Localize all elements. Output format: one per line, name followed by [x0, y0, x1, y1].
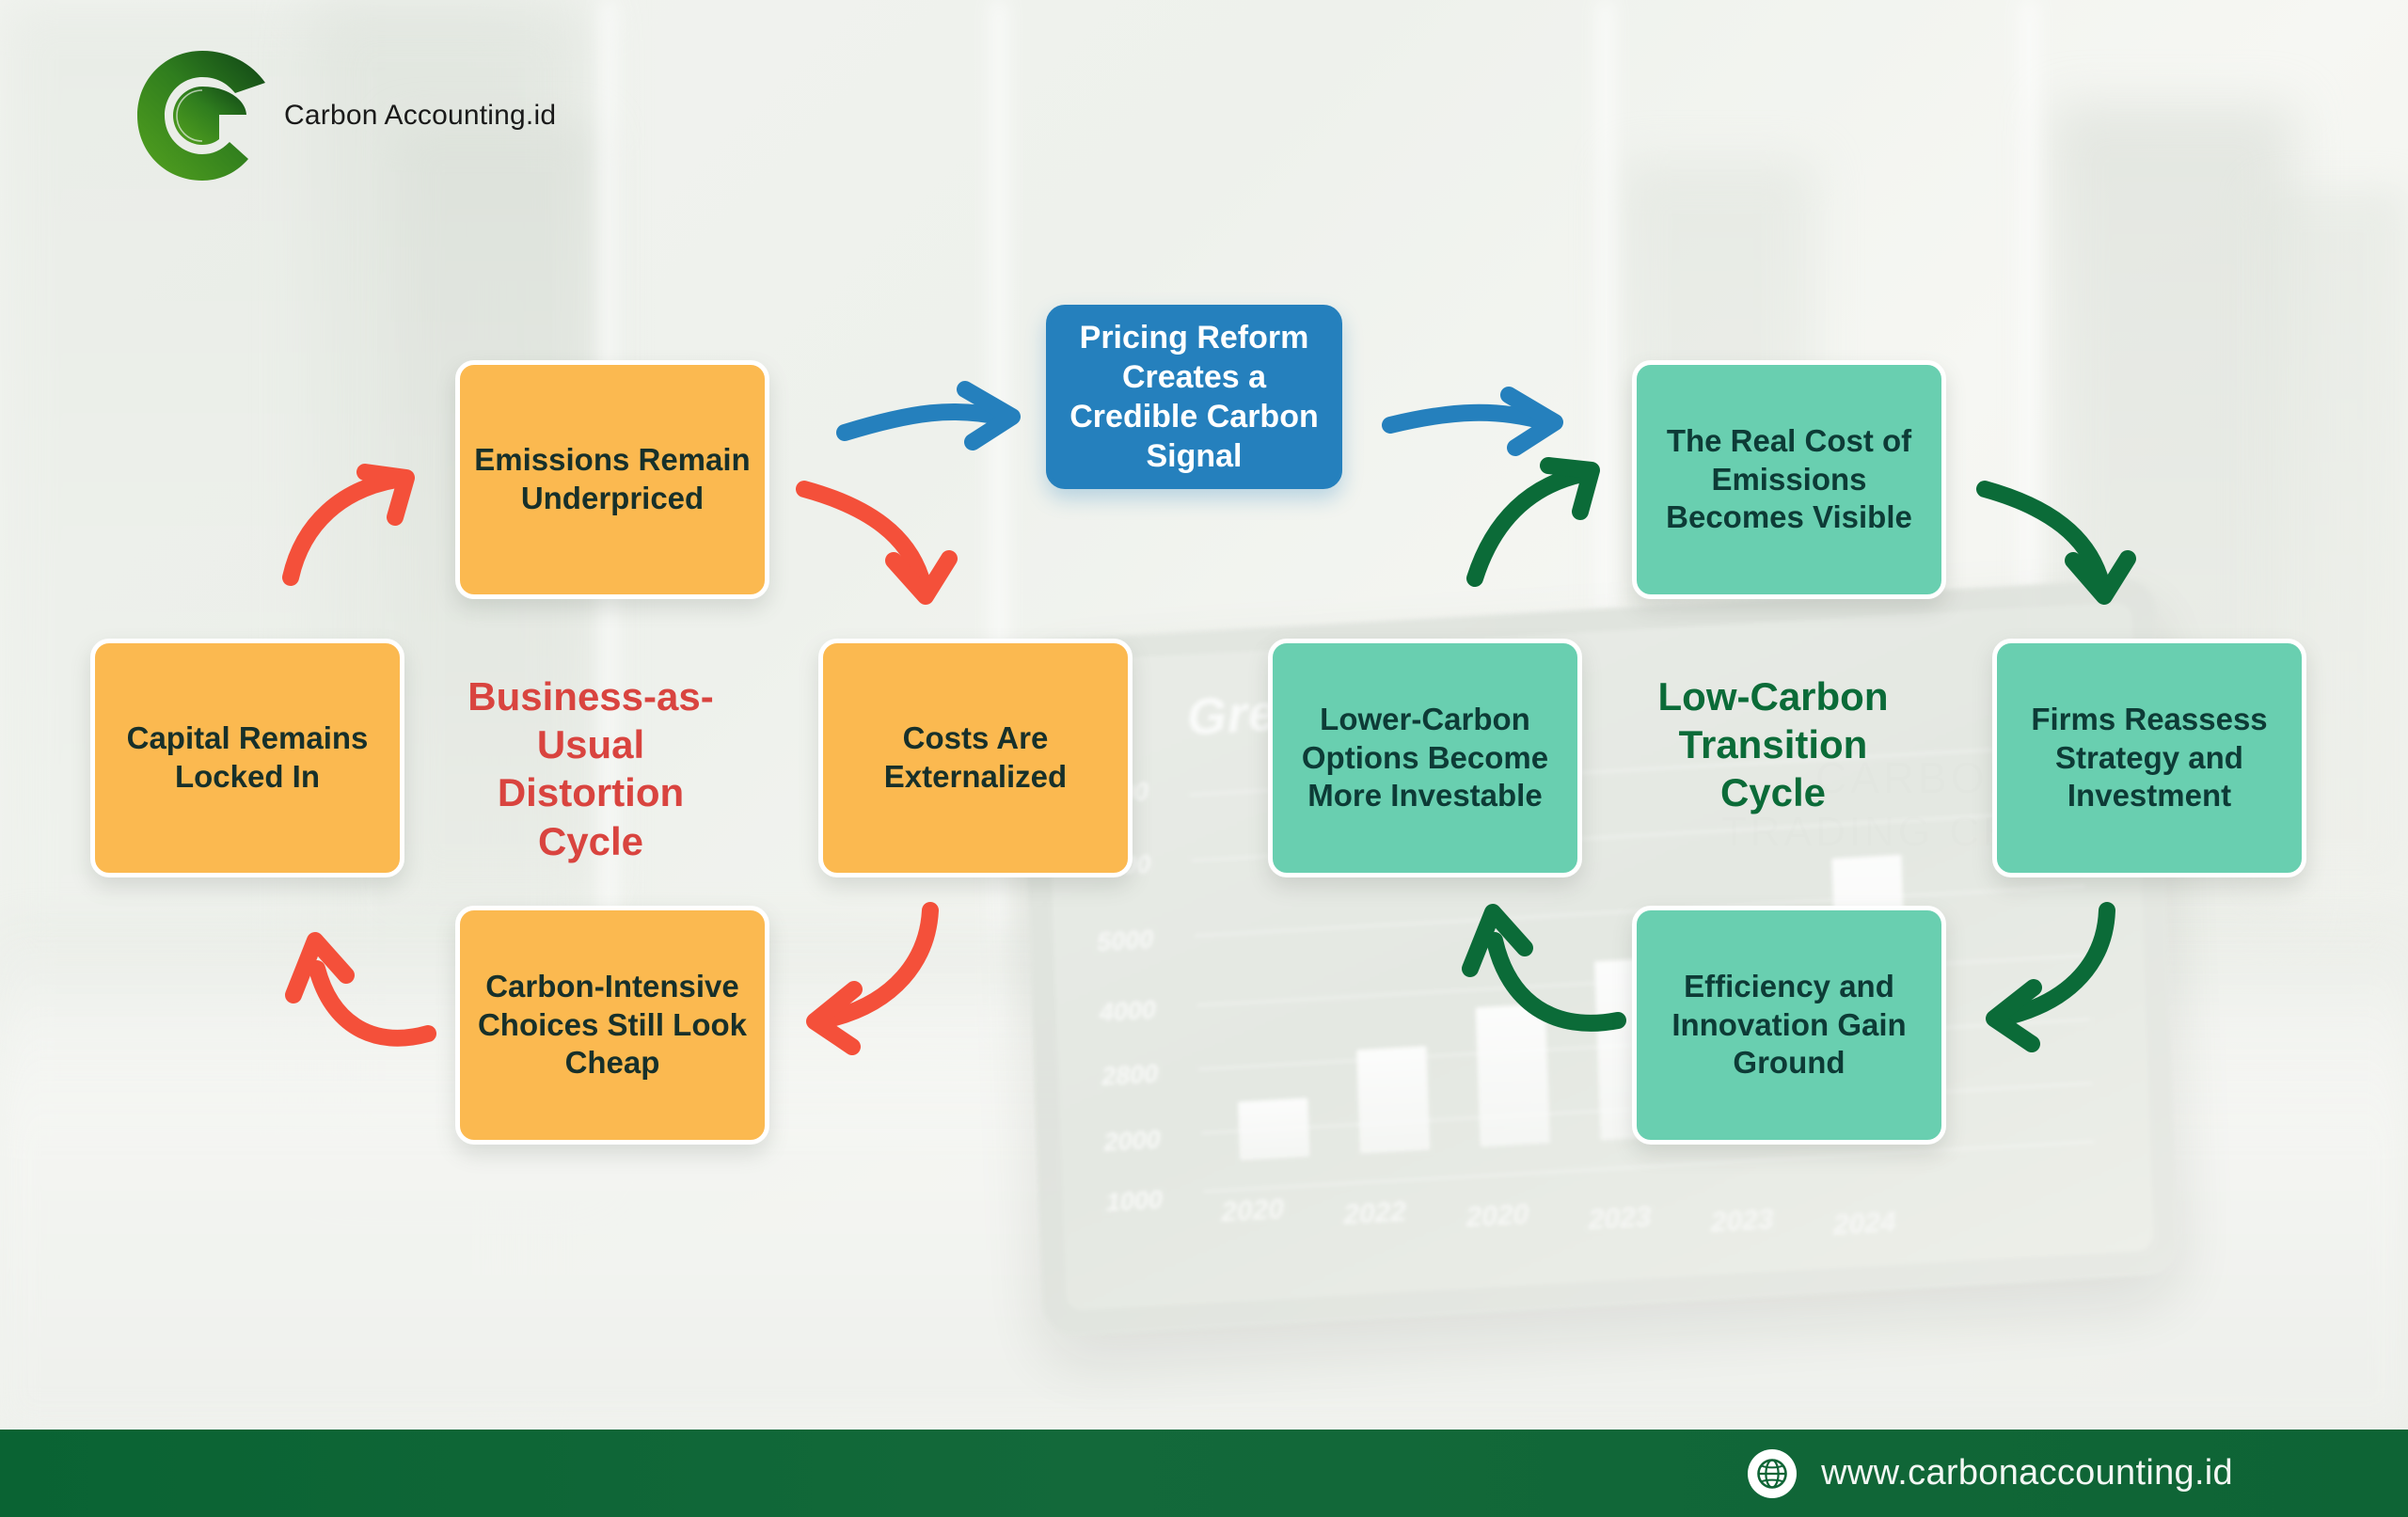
background-chart-xtick: 2020	[1465, 1199, 1529, 1235]
background-chart-ytick: 1000	[1105, 1185, 1163, 1217]
node-label: Carbon-Intensive Choices Still Look Chea…	[473, 968, 752, 1083]
node-label: Emissions Remain Underpriced	[473, 441, 752, 518]
background-chart-ytick: 2800	[1101, 1059, 1159, 1091]
left-cycle-title-line2: Usual Distortion	[498, 722, 684, 814]
left-cycle-title: Business-as- Usual Distortion Cycle	[450, 672, 732, 865]
node-label: Firms Reassess Strategy and Investment	[2010, 701, 2289, 816]
left-cycle-title-line1: Business-as-	[467, 674, 713, 719]
background-chart-xtick: 2020	[1221, 1193, 1285, 1229]
background-chart-ytick: 4000	[1099, 995, 1156, 1027]
carbon-accounting-c-logo-icon	[132, 45, 273, 186]
brand-name: Carbon Accounting.id	[284, 100, 556, 132]
node-label: The Real Cost of Emissions Becomes Visib…	[1650, 422, 1928, 538]
node-firms-reassess-strategy-and-investment[interactable]: Firms Reassess Strategy and Investment	[1992, 639, 2306, 877]
node-label: Lower-Carbon Options Become More Investa…	[1286, 701, 1564, 816]
right-cycle-title-line1: Low-Carbon	[1658, 674, 1889, 719]
right-cycle-title: Low-Carbon Transition Cycle	[1637, 672, 1909, 817]
brand-logo[interactable]: Carbon Accounting.id	[132, 45, 556, 186]
background-chart-xtick: 2023	[1710, 1204, 1774, 1240]
node-costs-are-externalized[interactable]: Costs Are Externalized	[818, 639, 1133, 877]
right-cycle-title-line3: Cycle	[1720, 770, 1826, 814]
left-cycle-title-line3: Cycle	[538, 819, 643, 863]
background-chart-xtick: 2023	[1588, 1201, 1652, 1237]
node-capital-remains-locked-in[interactable]: Capital Remains Locked In	[90, 639, 404, 877]
infographic-canvas: CARBON TRADING CERTIFIC Green Growth 509…	[0, 0, 2408, 1517]
arrow-emissions-to-costs	[804, 489, 949, 596]
node-emissions-remain-underpriced[interactable]: Emissions Remain Underpriced	[455, 360, 769, 599]
background-chart-xtick: 2022	[1343, 1196, 1407, 1232]
background-chart-bar	[1356, 1046, 1430, 1153]
arrow-to-pricing-reform	[845, 389, 1012, 442]
right-cycle-title-line2: Transition	[1679, 722, 1868, 766]
globe-icon	[1748, 1449, 1797, 1498]
arrow-carbon-intensive-to-capital	[293, 940, 428, 1038]
background-chart-xtick: 2024	[1832, 1207, 1896, 1242]
background-chart-ytick: 2000	[1103, 1125, 1161, 1157]
background-chart-bar	[1238, 1098, 1309, 1161]
background-chart-ytick: 5000	[1097, 924, 1154, 956]
brand-name-line2: Accounting.id	[384, 100, 556, 131]
node-label: Capital Remains Locked In	[108, 719, 387, 797]
node-label: Efficiency and Innovation Gain Ground	[1650, 968, 1928, 1083]
node-label: Costs Are Externalized	[836, 719, 1115, 797]
node-pricing-reform-creates-credible-carbon-signal[interactable]: Pricing Reform Creates a Credible Carbon…	[1046, 305, 1342, 489]
node-lower-carbon-options-become-more-investable[interactable]: Lower-Carbon Options Become More Investa…	[1268, 639, 1582, 877]
node-efficiency-and-innovation-gain-ground[interactable]: Efficiency and Innovation Gain Ground	[1632, 906, 1946, 1145]
background-chart-bar	[1476, 1003, 1550, 1146]
brand-name-line1: Carbon	[284, 100, 378, 131]
footer-website-url[interactable]: www.carbonaccounting.id	[1821, 1453, 2233, 1493]
arrow-lower-carbon-to-real-cost	[1475, 466, 1592, 578]
footer-bar: www.carbonaccounting.id	[0, 1430, 2408, 1517]
arrow-pricing-reform-to-real-cost	[1390, 395, 1555, 448]
background-tablet-screen: Green Growth 5090 7800 5000 4000 2800 20…	[1044, 602, 2154, 1311]
node-the-real-cost-of-emissions-becomes-visible[interactable]: The Real Cost of Emissions Becomes Visib…	[1632, 360, 1946, 599]
arrow-costs-to-carbon-intensive	[815, 910, 930, 1047]
arrow-capital-to-emissions	[291, 472, 406, 577]
node-carbon-intensive-choices-still-look-cheap[interactable]: Carbon-Intensive Choices Still Look Chea…	[455, 906, 769, 1145]
node-label: Pricing Reform Creates a Credible Carbon…	[1064, 318, 1324, 477]
